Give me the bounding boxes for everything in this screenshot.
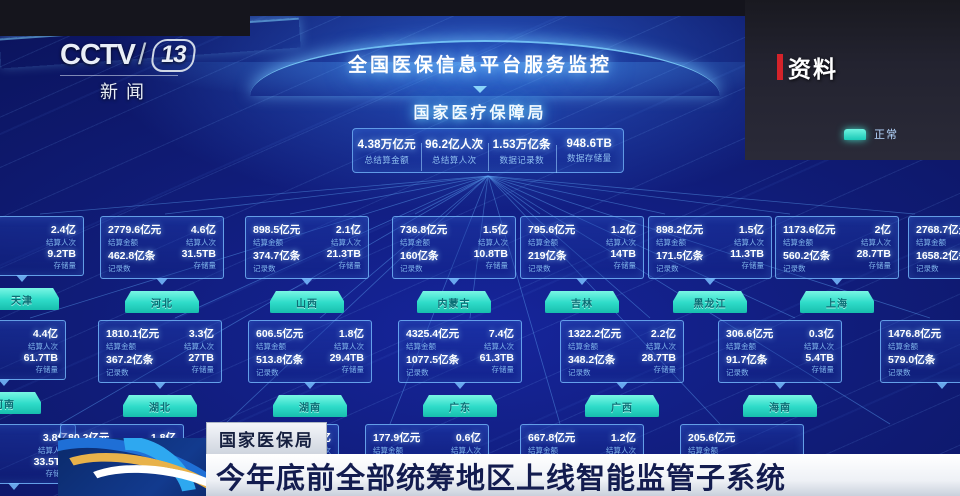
metric-settlement-amount: 1476.8亿元结算金额: [888, 326, 941, 352]
metric-label: 结算金额: [406, 341, 459, 352]
metric-label: 结算金额: [256, 341, 308, 352]
province-node[interactable]: 606.5亿元结算金额1.8亿结算人次513.8亿条记录数29.4TB存储量湖南: [248, 320, 372, 417]
dashboard-subtitle-label: 国家医疗保障局: [413, 105, 546, 122]
kpi-value: 4.38万亿元: [353, 136, 421, 152]
metric-record-count: [0, 352, 2, 375]
metric-label: 结算人次: [309, 237, 361, 248]
province-name: 湖北: [149, 399, 171, 414]
metric-storage-size: 5.4TB存储量: [782, 352, 834, 378]
kpi-label: 数据存储量: [556, 152, 624, 164]
province-plate[interactable]: 河南: [0, 392, 41, 414]
metric-settlement-visits: 2.2亿结算人次: [625, 326, 676, 352]
caret-down-icon: [16, 275, 28, 282]
lower-third-tag: 国家医保局: [206, 422, 327, 456]
metric-storage-size: [945, 352, 960, 378]
metric-label: 结算金额: [656, 237, 708, 248]
metric-record-count: 367.2亿条记录数: [106, 352, 159, 378]
metric-record-count: 374.7亿条记录数: [253, 248, 305, 274]
metric-label: 记录数: [916, 263, 960, 274]
metric-label: 记录数: [406, 367, 459, 378]
metric-label: 结算金额: [400, 237, 452, 248]
metric-label: 存储量: [24, 260, 76, 271]
metric-settlement-visits: [945, 326, 960, 352]
metric-label: 结算金额: [726, 341, 778, 352]
metric-value: 462.8亿条: [108, 248, 161, 263]
metric-label: 记录数: [726, 367, 778, 378]
metric-storage-size: 31.5TB存储量: [165, 248, 216, 274]
province-plate[interactable]: 吉林: [545, 291, 619, 313]
metric-label: 结算人次: [24, 237, 76, 248]
province-plate[interactable]: 广西: [585, 395, 659, 417]
metric-settlement-amount: [0, 326, 2, 352]
metric-storage-size: 61.7TB存储量: [6, 352, 58, 375]
caret-down-icon: [473, 86, 487, 93]
province-name: 天津: [11, 292, 33, 307]
metric-value: 3.3亿: [163, 326, 214, 341]
metric-settlement-visits: 4.4亿结算人次: [6, 326, 58, 352]
channel-name: 新闻: [60, 75, 178, 104]
metric-value: 28.7TB: [840, 248, 891, 260]
metric-storage-size: 29.4TB存储量: [312, 352, 364, 378]
metric-storage-size: 10.8TB存储量: [456, 248, 508, 274]
province-stats-card[interactable]: 1322.2亿元结算金额2.2亿结算人次348.2亿条记录数28.7TB存储量: [560, 320, 684, 383]
metric-record-count: 560.2亿条记录数: [783, 248, 836, 274]
metric-label: 结算人次: [463, 341, 514, 352]
source-badge: 资料: [777, 50, 838, 84]
video-frame: 全国医保信息平台服务监控 国家医疗保障局 4.38万亿元 总结算金额 96.2亿…: [0, 0, 960, 496]
province-node[interactable]: 4.4亿结算人次61.7TB存储量河南: [0, 320, 66, 414]
province-stats-card[interactable]: 898.5亿元结算金额2.1亿结算人次374.7亿条记录数21.3TB存储量: [245, 216, 369, 279]
province-node[interactable]: 795.6亿元结算金额1.2亿结算人次219亿条记录数14TB存储量吉林: [520, 216, 644, 313]
metric-label: 结算金额: [108, 237, 161, 248]
metric-label: 存储量: [782, 364, 834, 375]
metric-value: 9.2TB: [24, 248, 76, 260]
metric-settlement-visits: 1.5亿结算人次: [456, 222, 508, 248]
metric-settlement-amount: 795.6亿元结算金额: [528, 222, 580, 248]
province-stats-card[interactable]: 2768.7亿元结算金额1658.2亿条记录数: [908, 216, 960, 279]
metric-value: 2768.7亿元: [916, 222, 960, 237]
metric-value: 2亿: [840, 222, 891, 237]
metric-value: 2.4亿: [24, 222, 76, 237]
metric-value: 10.8TB: [456, 248, 508, 260]
metric-settlement-amount: 736.8亿元结算金额: [400, 222, 452, 248]
metric-value: 795.6亿元: [528, 222, 580, 237]
province-node[interactable]: 1810.1亿元结算金额3.3亿结算人次367.2亿条记录数27TB存储量湖北: [98, 320, 222, 417]
metric-label: 结算人次: [312, 341, 364, 352]
metric-record-count: 348.2亿条记录数: [568, 352, 621, 378]
metric-label: 结算人次: [782, 341, 834, 352]
metric-record-count: 513.8亿条记录数: [256, 352, 308, 378]
plate-icon: [844, 129, 866, 140]
metric-label: 记录数: [400, 263, 452, 274]
province-plate[interactable]: 海南: [743, 395, 817, 417]
metric-settlement-amount: 1810.1亿元结算金额: [106, 326, 159, 352]
province-plate[interactable]: 湖北: [123, 395, 197, 417]
metric-label: 存储量: [584, 260, 636, 271]
metric-settlement-visits: 1.5亿结算人次: [712, 222, 764, 248]
province-plate[interactable]: 山西: [270, 291, 344, 313]
province-node[interactable]: 1476.8亿元结算金额579.0亿条记录数: [880, 320, 960, 383]
metric-settlement-amount: 898.5亿元结算金额: [253, 222, 305, 248]
province-node[interactable]: 1173.6亿元结算金额2亿结算人次560.2亿条记录数28.7TB存储量上海: [775, 216, 899, 313]
metric-label: 结算金额: [783, 237, 836, 248]
caret-down-icon: [704, 278, 716, 285]
metric-label: 结算人次: [6, 341, 58, 352]
status-badge: 正常: [874, 126, 898, 142]
metric-value: 1077.5亿条: [406, 352, 459, 367]
metric-value: 171.5亿条: [656, 248, 708, 263]
province-plate[interactable]: 黑龙江: [673, 291, 747, 313]
metric-record-count: 1077.5亿条记录数: [406, 352, 459, 378]
metric-label: 存储量: [625, 364, 676, 375]
metric-record-count: 219亿条记录数: [528, 248, 580, 274]
kpi-label: 数据记录数: [488, 154, 556, 166]
metric-label: 结算金额: [568, 341, 621, 352]
metric-settlement-visits: 1.8亿结算人次: [312, 326, 364, 352]
province-stats-card[interactable]: 795.6亿元结算金额1.2亿结算人次219亿条记录数14TB存储量: [520, 216, 644, 279]
metric-settlement-amount: 2768.7亿元结算金额: [916, 222, 960, 248]
metric-value: 160亿条: [400, 248, 452, 263]
metric-label: 结算人次: [712, 237, 764, 248]
metric-label: 结算金额: [888, 341, 941, 352]
accent-bar-icon: [777, 54, 783, 80]
metric-label: 记录数: [253, 263, 305, 274]
metric-value: 374.7亿条: [253, 248, 305, 263]
metric-settlement-amount: 606.5亿元结算金额: [256, 326, 308, 352]
metric-settlement-visits: 4.6亿结算人次: [165, 222, 216, 248]
metric-label: 记录数: [106, 367, 159, 378]
province-stats-card[interactable]: 898.2亿元结算金额1.5亿结算人次171.5亿条记录数11.3TB存储量: [648, 216, 772, 279]
metric-record-count: 579.0亿条记录数: [888, 352, 941, 378]
metric-value: 29.4TB: [312, 352, 364, 364]
province-stats-card[interactable]: 606.5亿元结算金额1.8亿结算人次513.8亿条记录数29.4TB存储量: [248, 320, 372, 383]
province-stats-card[interactable]: 1173.6亿元结算金额2亿结算人次560.2亿条记录数28.7TB存储量: [775, 216, 899, 279]
metric-settlement-visits: 1.2亿结算人次: [584, 222, 636, 248]
kpi-summary-panel: 4.38万亿元 总结算金额 96.2亿人次 总结算人次 1.53万亿条 数据记录…: [352, 128, 624, 173]
metric-settlement-amount: [0, 222, 20, 248]
province-plate[interactable]: 上海: [800, 291, 874, 313]
metric-value: 4.4亿: [6, 326, 58, 341]
metric-record-count: 160亿条记录数: [400, 248, 452, 274]
metric-value: 7.4亿: [463, 326, 514, 341]
metric-value: 1.2亿: [584, 222, 636, 237]
province-node[interactable]: 1322.2亿元结算金额2.2亿结算人次348.2亿条记录数28.7TB存储量广…: [560, 320, 684, 417]
metric-value: 1322.2亿元: [568, 326, 621, 341]
kpi-data-records: 1.53万亿条 数据记录数: [488, 136, 556, 166]
caret-down-icon: [154, 382, 166, 389]
province-node[interactable]: 2779.6亿元结算金额4.6亿结算人次462.8亿条记录数31.5TB存储量河…: [100, 216, 224, 313]
metric-value: 306.6亿元: [726, 326, 778, 341]
metric-value: 11.3TB: [712, 248, 764, 260]
metric-label: 存储量: [163, 364, 214, 375]
metric-label: 结算金额: [253, 237, 305, 248]
province-plate[interactable]: 内蒙古: [417, 291, 491, 313]
metric-settlement-amount: 4325.4亿元结算金额: [406, 326, 459, 352]
kpi-data-storage: 948.6TB 数据存储量: [556, 138, 624, 164]
province-name: 河北: [151, 295, 173, 310]
metric-value: 1173.6亿元: [783, 222, 836, 237]
metric-label: 存储量: [165, 260, 216, 271]
metric-label: 存储量: [309, 260, 361, 271]
metric-storage-size: 61.3TB存储量: [463, 352, 514, 378]
caret-down-icon: [156, 278, 168, 285]
metric-value: 1476.8亿元: [888, 326, 941, 341]
metric-label: 结算人次: [584, 237, 636, 248]
metric-storage-size: 14TB存储量: [584, 248, 636, 274]
metric-value: 1810.1亿元: [106, 326, 159, 341]
province-stats-card[interactable]: 2779.6亿元结算金额4.6亿结算人次462.8亿条记录数31.5TB存储量: [100, 216, 224, 279]
kpi-total-settlement-amount: 4.38万亿元 总结算金额: [353, 136, 421, 166]
caret-down-icon: [0, 379, 10, 386]
province-stats-card[interactable]: 1810.1亿元结算金额3.3亿结算人次367.2亿条记录数27TB存储量: [98, 320, 222, 383]
channel-logo-text: CCTV: [60, 39, 135, 72]
caret-down-icon: [936, 382, 948, 389]
province-name: 山西: [296, 295, 318, 310]
province-name: 广东: [449, 399, 471, 414]
metric-value: 2.2亿: [625, 326, 676, 341]
metric-settlement-visits: 2.1亿结算人次: [309, 222, 361, 248]
metric-label: 记录数: [528, 263, 580, 274]
province-name: 广西: [611, 399, 633, 414]
metric-label: 存储量: [312, 364, 364, 375]
kpi-value: 948.6TB: [556, 138, 624, 150]
metric-settlement-visits: 2亿结算人次: [840, 222, 891, 248]
metric-value: 2779.6亿元: [108, 222, 161, 237]
metric-settlement-amount: 1173.6亿元结算金额: [783, 222, 836, 248]
metric-storage-size: 9.2TB存储量: [24, 248, 76, 271]
province-node[interactable]: 736.8亿元结算金额1.5亿结算人次160亿条记录数10.8TB存储量内蒙古: [392, 216, 516, 313]
metric-label: 存储量: [463, 364, 514, 375]
metric-value: 4.6亿: [165, 222, 216, 237]
metric-storage-size: 11.3TB存储量: [712, 248, 764, 274]
province-node[interactable]: 306.6亿元结算金额0.3亿结算人次91.7亿条记录数5.4TB存储量海南: [718, 320, 842, 417]
province-stats-card[interactable]: 4.4亿结算人次61.7TB存储量: [0, 320, 66, 380]
province-stats-card[interactable]: 736.8亿元结算金额1.5亿结算人次160亿条记录数10.8TB存储量: [392, 216, 516, 279]
province-node[interactable]: 2.4亿结算人次9.2TB存储量天津: [0, 216, 84, 310]
metric-value: 61.7TB: [6, 352, 58, 364]
metric-label: 存储量: [712, 260, 764, 271]
province-stats-card[interactable]: 4325.4亿元结算金额7.4亿结算人次1077.5亿条记录数61.3TB存储量: [398, 320, 522, 383]
province-name: 内蒙古: [438, 295, 471, 310]
metric-settlement-amount: 1322.2亿元结算金额: [568, 326, 621, 352]
channel-number: 13: [150, 39, 197, 72]
metric-record-count: 171.5亿条记录数: [656, 248, 708, 274]
metric-label: 记录数: [656, 263, 708, 274]
metric-value: 31.5TB: [165, 248, 216, 260]
metric-settlement-visits: 2.4亿结算人次: [24, 222, 76, 248]
metric-label: 记录数: [108, 263, 161, 274]
metric-settlement-amount: 2779.6亿元结算金额: [108, 222, 161, 248]
metric-value: 367.2亿条: [106, 352, 159, 367]
caret-down-icon: [301, 278, 313, 285]
metric-label: 记录数: [783, 263, 836, 274]
metric-record-count: 91.7亿条记录数: [726, 352, 778, 378]
province-plate[interactable]: 湖南: [273, 395, 347, 417]
metric-label: 结算人次: [625, 341, 676, 352]
province-name: 湖南: [299, 399, 321, 414]
metric-label: 记录数: [888, 367, 941, 378]
province-name: 吉林: [571, 295, 593, 310]
metric-value: 21.3TB: [309, 248, 361, 260]
metric-settlement-visits: 0.3亿结算人次: [782, 326, 834, 352]
metric-record-count: 1658.2亿条记录数: [916, 248, 960, 274]
metric-value: 1.5亿: [456, 222, 508, 237]
province-name: 上海: [826, 295, 848, 310]
metric-storage-size: 28.7TB存储量: [840, 248, 891, 274]
metric-record-count: [0, 248, 20, 271]
caret-down-icon: [304, 382, 316, 389]
metric-storage-size: 28.7TB存储量: [625, 352, 676, 378]
metric-label: 记录数: [256, 367, 308, 378]
metric-record-count: 462.8亿条记录数: [108, 248, 161, 274]
metric-label: 结算人次: [456, 237, 508, 248]
province-stats-card[interactable]: 2.4亿结算人次9.2TB存储量: [0, 216, 84, 276]
metric-label: 存储量: [840, 260, 891, 271]
metric-value: 898.2亿元: [656, 222, 708, 237]
caret-down-icon: [831, 278, 843, 285]
metric-settlement-visits: 3.3亿结算人次: [163, 326, 214, 352]
kpi-total-settlement-visits: 96.2亿人次 总结算人次: [421, 136, 489, 166]
kpi-value: 1.53万亿条: [488, 136, 556, 152]
province-node[interactable]: 4325.4亿元结算金额7.4亿结算人次1077.5亿条记录数61.3TB存储量…: [398, 320, 522, 417]
kpi-label: 总结算人次: [421, 154, 489, 166]
metric-settlement-visits: 7.4亿结算人次: [463, 326, 514, 352]
lower-third-bar: 今年底前全部统筹地区上线智能监管子系统: [206, 454, 960, 496]
metric-value: 348.2亿条: [568, 352, 621, 367]
metric-value: 2.1亿: [309, 222, 361, 237]
metric-value: 736.8亿元: [400, 222, 452, 237]
headline: 今年底前全部统筹地区上线智能监管子系统: [206, 455, 786, 496]
metric-value: 219亿条: [528, 248, 580, 263]
metric-value: 560.2亿条: [783, 248, 836, 263]
metric-label: 结算人次: [840, 237, 891, 248]
metric-value: 579.0亿条: [888, 352, 941, 367]
province-node[interactable]: 2768.7亿元结算金额1658.2亿条记录数: [908, 216, 960, 279]
metric-label: 结算金额: [528, 237, 580, 248]
status-legend: 正常: [844, 126, 898, 142]
metric-value: 27TB: [163, 352, 214, 364]
metric-value: 28.7TB: [625, 352, 676, 364]
metric-label: 存储量: [456, 260, 508, 271]
province-stats-card[interactable]: 306.6亿元结算金额0.3亿结算人次91.7亿条记录数5.4TB存储量: [718, 320, 842, 383]
screen-bezel-left: [0, 0, 250, 36]
metric-value: 1.5亿: [712, 222, 764, 237]
metric-settlement-amount: 306.6亿元结算金额: [726, 326, 778, 352]
channel-logo: CCTV / 13 新闻: [60, 38, 200, 96]
province-name: 黑龙江: [694, 295, 727, 310]
metric-label: 结算金额: [106, 341, 159, 352]
metric-value: 61.3TB: [463, 352, 514, 364]
metric-value: 898.5亿元: [253, 222, 305, 237]
caret-down-icon: [616, 382, 628, 389]
caret-down-icon: [454, 382, 466, 389]
metric-settlement-amount: 898.2亿元结算金额: [656, 222, 708, 248]
source-badge-label: 资料: [788, 50, 838, 84]
metric-value: 1.8亿: [312, 326, 364, 341]
metric-value: 0.3亿: [782, 326, 834, 341]
province-plate[interactable]: 河北: [125, 291, 199, 313]
metric-value: 1658.2亿条: [916, 248, 960, 263]
metric-storage-size: 27TB存储量: [163, 352, 214, 378]
province-name: 河南: [0, 396, 15, 411]
province-node[interactable]: 898.2亿元结算金额1.5亿结算人次171.5亿条记录数11.3TB存储量黑龙…: [648, 216, 772, 313]
metric-label: 存储量: [6, 364, 58, 375]
metric-label: 结算金额: [916, 237, 960, 248]
province-stats-card[interactable]: 1476.8亿元结算金额579.0亿条记录数: [880, 320, 960, 383]
province-name: 海南: [769, 399, 791, 414]
metric-label: 结算人次: [163, 341, 214, 352]
metric-value: 4325.4亿元: [406, 326, 459, 341]
province-plate[interactable]: 广东: [423, 395, 497, 417]
lower-third: 国家医保局 今年底前全部统筹地区上线智能监管子系统: [0, 420, 960, 496]
province-plate[interactable]: 天津: [0, 288, 59, 310]
caret-down-icon: [774, 382, 786, 389]
metric-storage-size: 21.3TB存储量: [309, 248, 361, 274]
metric-label: 记录数: [568, 367, 621, 378]
metric-label: 结算人次: [165, 237, 216, 248]
caret-down-icon: [448, 278, 460, 285]
caret-down-icon: [576, 278, 588, 285]
province-node[interactable]: 898.5亿元结算金额2.1亿结算人次374.7亿条记录数21.3TB存储量山西: [245, 216, 369, 313]
kpi-label: 总结算金额: [353, 154, 421, 166]
metric-value: 5.4TB: [782, 352, 834, 364]
metric-value: 606.5亿元: [256, 326, 308, 341]
metric-value: 513.8亿条: [256, 352, 308, 367]
metric-value: 91.7亿条: [726, 352, 778, 367]
metric-value: 14TB: [584, 248, 636, 260]
logo-slash-icon: /: [138, 38, 145, 72]
kpi-value: 96.2亿人次: [421, 136, 489, 152]
